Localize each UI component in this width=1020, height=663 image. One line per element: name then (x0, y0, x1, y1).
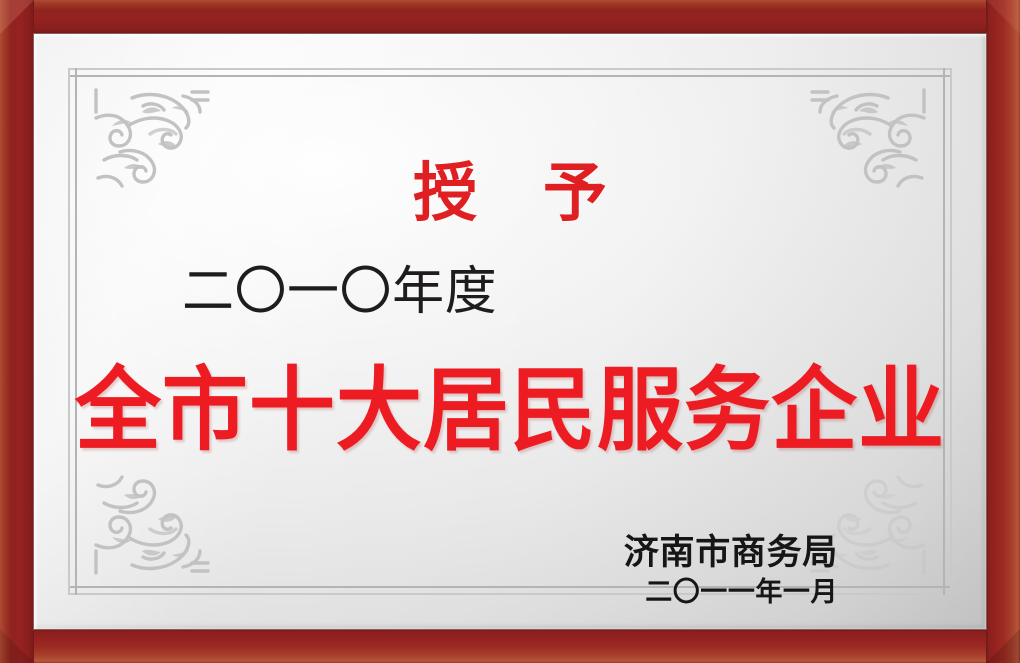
border-line-right-inner (943, 68, 945, 595)
issuer-organization: 济南市商务局 (624, 534, 838, 573)
award-main-title: 全市十大居民服务企业 (34, 365, 986, 456)
frame-right-stile (986, 0, 1020, 663)
border-line-left-outer (68, 68, 70, 595)
frame-left-stile (0, 0, 34, 663)
issue-date: 二〇一一年一月 (645, 578, 838, 608)
certificate-plate: 授 予 二〇一〇年度 全市十大居民服务企业 济南市商务局 二〇一一年一月 (34, 34, 986, 629)
frame-top-rail (0, 0, 1020, 34)
border-line-top-inner (68, 75, 952, 77)
border-line-right-outer (950, 68, 952, 595)
award-year-line: 二〇一〇年度 (182, 266, 497, 318)
frame-bottom-rail (0, 629, 1020, 663)
border-line-left-inner (75, 68, 77, 595)
corner-filigree-icon-bottom-left (88, 469, 214, 581)
border-line-top-outer (68, 68, 952, 70)
award-heading: 授 予 (34, 162, 986, 226)
award-plaque: 授 予 二〇一〇年度 全市十大居民服务企业 济南市商务局 二〇一一年一月 (0, 0, 1020, 663)
